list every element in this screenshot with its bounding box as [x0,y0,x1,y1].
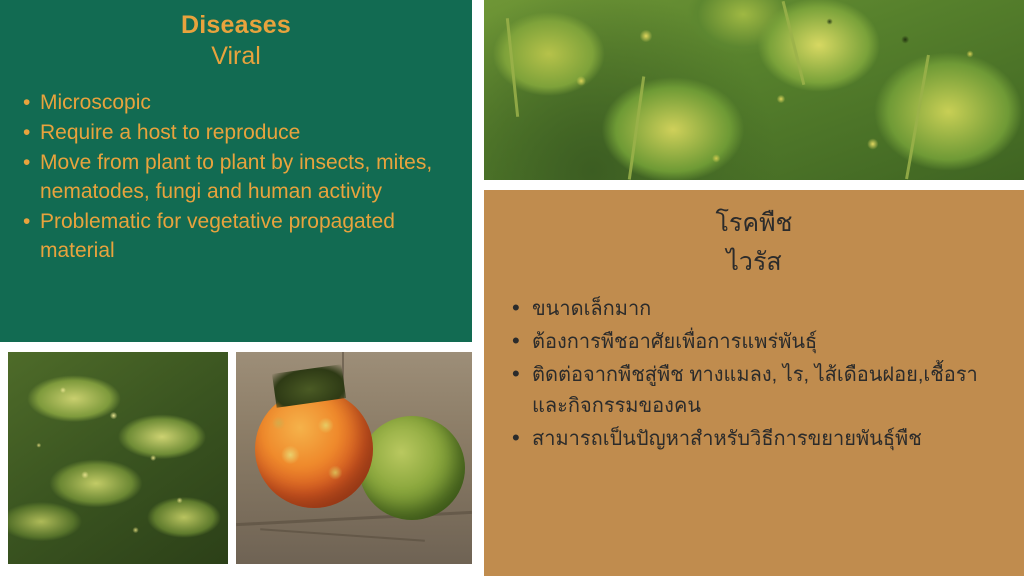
list-item: • ขนาดเล็กมาก [502,294,1006,325]
tomato-leaf-mosaic-photo [8,352,228,564]
bullet-icon: • [23,148,30,177]
green-tomato-shape [359,416,465,520]
bullet-icon: • [23,207,30,236]
bullet-icon: • [512,292,520,323]
photo-content [484,0,1024,180]
list-item: • Require a host to reproduce [14,118,458,147]
page-title: Diseases [14,10,458,40]
list-item-label: ต้องการพืชอาศัยเพื่อการแพร่พันธุ์ [532,331,817,353]
bullet-icon: • [23,88,30,117]
bullet-icon: • [512,422,520,453]
list-item-label: ขนาดเล็กมาก [532,298,651,320]
page-subtitle: Viral [14,40,458,72]
thai-content-panel: โรคพืช ไวรัส • ขนาดเล็กมาก • ต้องการพืชอ… [484,190,1024,576]
ripening-tomato-shape [255,390,373,508]
list-item-label: Move from plant to plant by insects, mit… [40,151,432,203]
thai-bullet-list: • ขนาดเล็กมาก • ต้องการพืชอาศัยเพื่อการแ… [502,294,1006,455]
bullet-icon: • [512,325,520,356]
bullet-icon: • [23,118,30,147]
list-item: • ติดต่อจากพืชสู่พืช ทางแมลง, ไร, ไส้เดื… [502,360,1006,422]
english-content-panel: Diseases Viral • Microscopic • Require a… [0,0,472,342]
list-item: • สามารถเป็นปัญหาสำหรับวิธีการขยายพันธุ์… [502,424,1006,455]
list-item-label: สามารถเป็นปัญหาสำหรับวิธีการขยายพันธุ์พื… [532,428,922,450]
photo-content [8,352,228,564]
list-item-label: Microscopic [40,91,151,114]
list-item: • ต้องการพืชอาศัยเพื่อการแพร่พันธุ์ [502,327,1006,358]
english-bullet-list: • Microscopic • Require a host to reprod… [14,88,458,265]
list-item: • Microscopic [14,88,458,117]
cucurbit-leaves-mosaic-photo [484,0,1024,180]
list-item-label: Require a host to reproduce [40,121,300,144]
list-item-label: ติดต่อจากพืชสู่พืช ทางแมลง, ไร, ไส้เดือน… [532,364,978,417]
thai-page-subtitle: ไวรัส [502,242,1006,282]
slide: Diseases Viral • Microscopic • Require a… [0,0,1024,576]
list-item-label: Problematic for vegetative propagated ma… [40,210,395,262]
thai-page-title: โรคพืช [502,204,1006,242]
list-item: • Problematic for vegetative propagated … [14,207,458,265]
list-item: • Move from plant to plant by insects, m… [14,148,458,206]
bullet-icon: • [512,358,520,389]
tomato-fruit-symptoms-photo [236,352,472,564]
